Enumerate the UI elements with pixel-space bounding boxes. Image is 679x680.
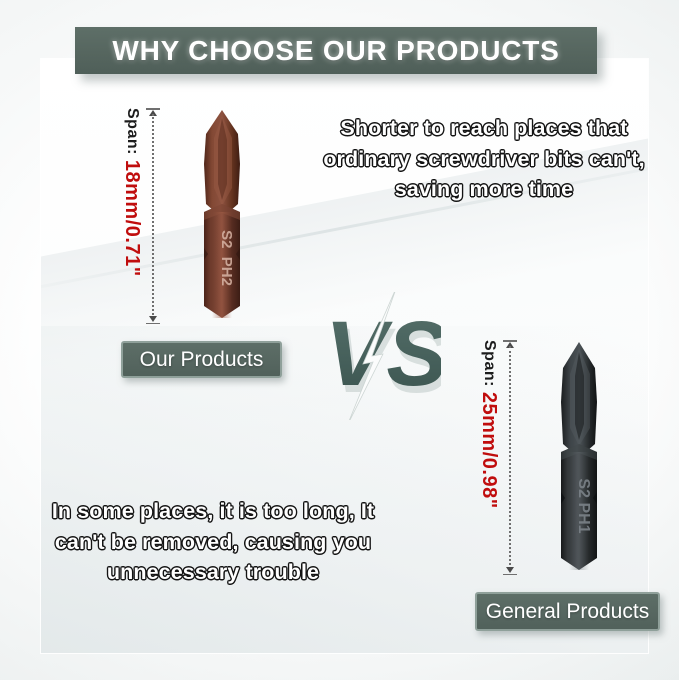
general-bit-image: S2 PH1 — [539, 340, 619, 580]
general-span-label: Span: — [481, 340, 498, 387]
general-bit-marking: S2 PH1 — [575, 478, 592, 533]
our-product-group: Span: 18mm/0.71" — [121, 108, 262, 329]
dimension-dotted-rule — [509, 346, 511, 569]
our-products-badge-label: Our Products — [140, 348, 264, 372]
general-products-badge: General Products — [475, 592, 660, 631]
dimension-cap-bottom-icon — [146, 323, 160, 325]
our-dimension-line — [146, 108, 160, 324]
black-screwdriver-bit-icon: S2 PH1 — [539, 340, 619, 575]
vs-lightning-icon: VS VS — [323, 292, 441, 420]
general-product-group: Span: 25mm/0.98" — [478, 340, 619, 580]
our-span-caption: Span: 18mm/0.71" — [121, 108, 142, 277]
general-products-badge-label: General Products — [486, 600, 649, 624]
our-product-measure-row: Span: 18mm/0.71" — [121, 108, 262, 329]
general-product-measure-row: Span: 25mm/0.98" — [478, 340, 619, 580]
general-span-caption: Span: 25mm/0.98" — [478, 340, 499, 509]
promo-comparison-graphic: WHY CHOOSE OUR PRODUCTS Span: 18mm/0.71" — [0, 0, 679, 680]
versus-mark: VS VS — [323, 292, 441, 420]
general-product-description: In some places, it is too long, It can't… — [48, 496, 378, 588]
our-bit-image: S2 PH2 — [182, 108, 262, 329]
header-banner: WHY CHOOSE OUR PRODUCTS — [75, 27, 597, 74]
our-bit-marking: S2 PH2 — [218, 230, 235, 286]
dimension-arrow-bottom-icon — [506, 567, 514, 573]
page-title: WHY CHOOSE OUR PRODUCTS — [112, 35, 559, 67]
our-span-value: 18mm/0.71" — [121, 160, 143, 277]
general-dimension-line — [503, 340, 517, 575]
our-span-label: Span: — [124, 108, 141, 155]
our-products-badge: Our Products — [121, 341, 282, 378]
general-span-value: 25mm/0.98" — [478, 392, 500, 509]
brown-screwdriver-bit-icon: S2 PH2 — [182, 108, 262, 324]
dimension-dotted-rule — [152, 114, 154, 318]
dimension-cap-bottom-icon — [503, 574, 517, 576]
dimension-arrow-bottom-icon — [149, 316, 157, 322]
our-product-description: Shorter to reach places that ordinary sc… — [312, 113, 656, 205]
